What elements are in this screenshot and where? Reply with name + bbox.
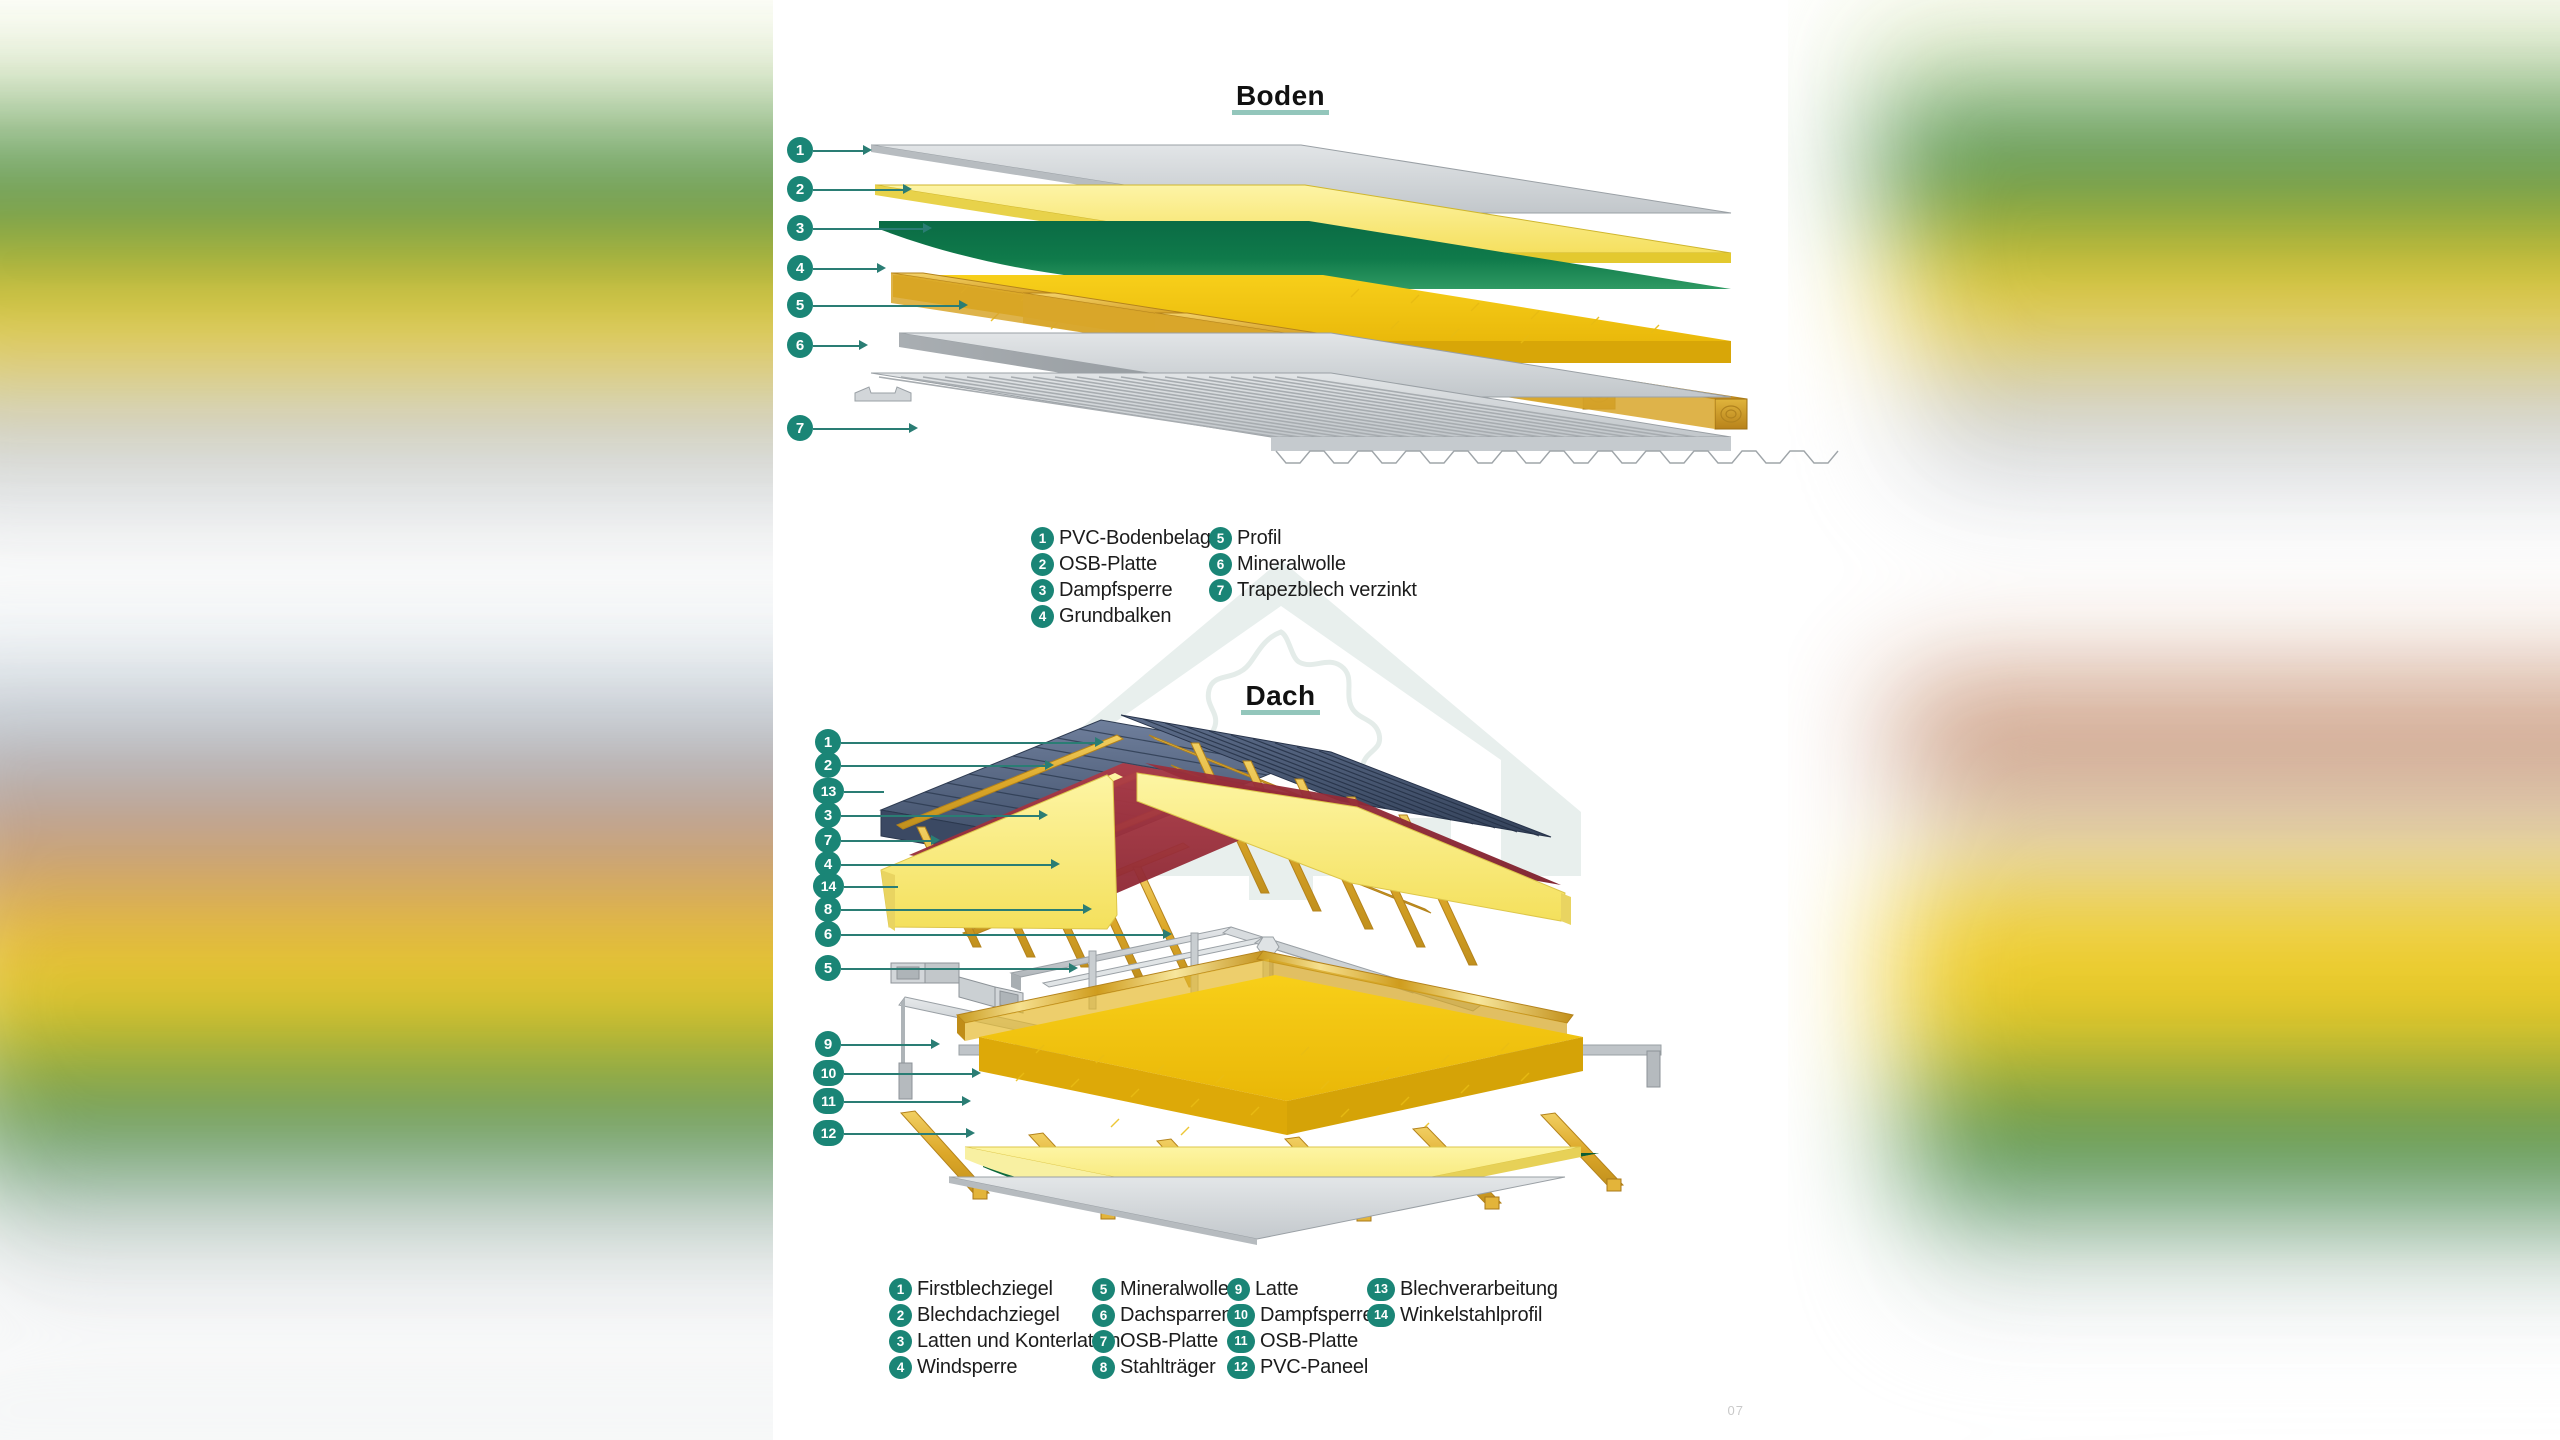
dach-title-text: Dach [1245,680,1315,711]
legend-badge: 3 [889,1330,912,1353]
legend-item: 4 Grundbalken [1031,605,1189,628]
legend-badge: 14 [1367,1304,1395,1327]
legend-column: 5 Mineralwolle 6 Dachsparren 7 OSB-Platt… [1092,1278,1227,1382]
legend-badge: 2 [889,1304,912,1327]
legend-badge: 5 [1092,1278,1115,1301]
callout-badge: 3 [815,802,841,828]
callout-arrow-icon [1051,859,1060,869]
page-panel: Boden [773,0,1788,1440]
legend-item: 7 OSB-Platte [1092,1330,1227,1353]
legend-label: PVC-Paneel [1260,1356,1368,1379]
callout-arrow-icon [931,835,940,845]
callout-boden-6[interactable]: 6 [787,332,813,358]
callout-dach-3[interactable]: 3 [815,802,841,828]
callout-badge: 12 [813,1120,844,1146]
legend-item: 5 Profil [1209,527,1417,550]
legend-badge: 6 [1209,553,1232,576]
callout-lead-line [813,268,879,270]
legend-item: 2 OSB-Platte [1031,553,1189,576]
section-title-dach: Dach [773,680,1788,712]
legend-label: OSB-Platte [1260,1330,1358,1353]
legend-label: Latten und Konterlatten [917,1330,1120,1353]
legend-item: 6 Dachsparren [1092,1304,1227,1327]
legend-label: Blechverarbeitung [1400,1278,1558,1301]
callout-badge: 10 [813,1060,844,1086]
callout-arrow-icon [1083,904,1092,914]
callout-badge: 3 [787,215,813,241]
callout-lead-line [841,840,933,842]
callout-boden-5[interactable]: 5 [787,292,813,318]
legend-badge: 12 [1227,1356,1255,1379]
callout-arrow-icon [859,340,868,350]
legend-label: Stahlträger [1120,1356,1216,1379]
callout-dach-11[interactable]: 11 [813,1088,844,1114]
legend-badge: 4 [889,1356,912,1379]
callout-boden-2[interactable]: 2 [787,176,813,202]
callout-arrow-icon [966,1128,975,1138]
legend-column: 1 PVC-Bodenbelag 2 OSB-Platte 3 Dampfspe… [1031,527,1189,631]
callout-badge: 2 [815,752,841,778]
legend-item: 14 Winkelstahlprofil [1367,1304,1558,1327]
legend-item: 7 Trapezblech verzinkt [1209,579,1417,602]
callout-lead-line [813,305,961,307]
legend-badge: 13 [1367,1278,1395,1301]
callout-lead-line [841,864,1053,866]
legend-item: 10 Dampfsperre [1227,1304,1367,1327]
legend-badge: 1 [889,1278,912,1301]
callout-arrow-icon [877,263,886,273]
legend-column: 9 Latte 10 Dampfsperre 11 OSB-Platte 12 … [1227,1278,1367,1382]
legend-column: 5 Profil 6 Mineralwolle 7 Trapezblech ve… [1209,527,1417,631]
callout-arrow-icon [1163,929,1172,939]
callout-badge: 2 [787,176,813,202]
layer-pvc-paneel [949,1177,1565,1245]
legend-label: Profil [1237,527,1281,550]
callout-dach-7[interactable]: 7 [815,827,841,853]
callout-arrow-icon [962,1096,971,1106]
callout-dach-8[interactable]: 8 [815,896,841,922]
legend-item: 3 Dampfsperre [1031,579,1189,602]
callout-arrow-icon [923,223,932,233]
legend-label: Blechdachziegel [917,1304,1060,1327]
callout-badge: 4 [787,255,813,281]
callout-lead-line [841,909,1085,911]
legend-item: 9 Latte [1227,1278,1367,1301]
legend-item: 12 PVC-Paneel [1227,1356,1367,1379]
legend-item: 11 OSB-Platte [1227,1330,1367,1353]
callout-lead-line [844,1073,974,1075]
legend-badge: 8 [1092,1356,1115,1379]
callout-lead-line [841,765,1047,767]
legend-label: Mineralwolle [1237,553,1346,576]
callout-arrow-icon [909,423,918,433]
legend-badge: 9 [1227,1278,1250,1301]
callout-dach-5[interactable]: 5 [815,955,841,981]
callout-lead-line [813,345,861,347]
callout-boden-3[interactable]: 3 [787,215,813,241]
legend-column: 1 Firstblechziegel 2 Blechdachziegel 3 L… [889,1278,1092,1382]
legend-badge: 2 [1031,553,1054,576]
callout-badge: 1 [787,137,813,163]
callout-badge: 6 [815,921,841,947]
callout-lead-line [841,1044,933,1046]
legend-column: 13 Blechverarbeitung 14 Winkelstahlprofi… [1367,1278,1558,1382]
legend-badge: 10 [1227,1304,1255,1327]
legend-item: 4 Windsperre [889,1356,1092,1379]
callout-badge: 9 [815,1031,841,1057]
callout-arrow-icon [863,145,872,155]
callout-badge: 8 [815,896,841,922]
callout-lead-line [841,815,1041,817]
callout-boden-1[interactable]: 1 [787,137,813,163]
legend-item: 1 PVC-Bodenbelag [1031,527,1189,550]
legend-badge: 7 [1092,1330,1115,1353]
page-number: 07 [1728,1403,1744,1418]
screenshot-root: Boden [0,0,2560,1440]
boden-title-text: Boden [1236,80,1325,111]
callout-dach-9[interactable]: 9 [815,1031,841,1057]
legend-item: 6 Mineralwolle [1209,553,1417,576]
legend-badge: 1 [1031,527,1054,550]
callout-arrow-icon [1095,737,1104,747]
legend-label: Mineralwolle [1120,1278,1229,1301]
boden-legend: 1 PVC-Bodenbelag 2 OSB-Platte 3 Dampfspe… [1031,527,1417,631]
callout-badge: 13 [813,778,844,804]
callout-lead-line [841,934,1165,936]
callout-lead-line [844,791,884,793]
callout-arrow-icon [931,1039,940,1049]
boden-exploded-diagram [831,125,1731,505]
callout-arrow-icon [959,300,968,310]
callout-badge: 7 [815,827,841,853]
legend-badge: 5 [1209,527,1232,550]
legend-label: OSB-Platte [1059,553,1157,576]
legend-label: Dampfsperre [1260,1304,1373,1327]
legend-badge: 4 [1031,605,1054,628]
legend-item: 8 Stahlträger [1092,1356,1227,1379]
callout-badge: 6 [787,332,813,358]
legend-label: OSB-Platte [1120,1330,1218,1353]
callout-boden-4[interactable]: 4 [787,255,813,281]
callout-arrow-icon [972,1068,981,1078]
callout-badge: 11 [813,1088,844,1114]
callout-arrow-icon [903,184,912,194]
callout-dach-10[interactable]: 10 [813,1060,844,1086]
legend-label: Dachsparren [1120,1304,1232,1327]
callout-boden-7[interactable]: 7 [787,415,813,441]
title-underline [1232,110,1329,115]
legend-item: 1 Firstblechziegel [889,1278,1092,1301]
legend-label: Winkelstahlprofil [1400,1304,1542,1327]
legend-label: Dampfsperre [1059,579,1172,602]
callout-dach-13[interactable]: 13 [813,778,844,804]
callout-lead-line [841,968,1071,970]
callout-dach-12[interactable]: 12 [813,1120,844,1146]
legend-item: 5 Mineralwolle [1092,1278,1227,1301]
section-title-boden: Boden [773,80,1788,112]
callout-lead-line [844,886,898,888]
callout-dach-2[interactable]: 2 [815,752,841,778]
callout-lead-line [813,428,911,430]
legend-badge: 3 [1031,579,1054,602]
legend-label: Firstblechziegel [917,1278,1053,1301]
callout-arrow-icon [1045,760,1054,770]
legend-badge: 6 [1092,1304,1115,1327]
callout-badge: 7 [787,415,813,441]
callout-arrow-icon [1039,810,1048,820]
legend-badge: 11 [1227,1330,1255,1353]
callout-dach-6[interactable]: 6 [815,921,841,947]
callout-arrow-icon [1069,963,1078,973]
legend-item: 2 Blechdachziegel [889,1304,1092,1327]
legend-label: Windsperre [917,1356,1017,1379]
legend-label: PVC-Bodenbelag [1059,527,1211,550]
legend-label: Trapezblech verzinkt [1237,579,1417,602]
callout-lead-line [813,150,865,152]
legend-label: Grundbalken [1059,605,1171,628]
callout-lead-line [813,189,905,191]
legend-label: Latte [1255,1278,1298,1301]
callout-badge: 5 [815,955,841,981]
callout-lead-line [813,228,925,230]
legend-item: 3 Latten und Konterlatten [889,1330,1092,1353]
callout-lead-line [841,742,1097,744]
legend-item: 13 Blechverarbeitung [1367,1278,1558,1301]
dach-legend: 1 Firstblechziegel 2 Blechdachziegel 3 L… [889,1278,1558,1382]
dach-exploded-diagram [861,715,1741,1260]
legend-badge: 7 [1209,579,1232,602]
callout-badge: 5 [787,292,813,318]
callout-lead-line [844,1133,968,1135]
callout-lead-line [844,1101,964,1103]
